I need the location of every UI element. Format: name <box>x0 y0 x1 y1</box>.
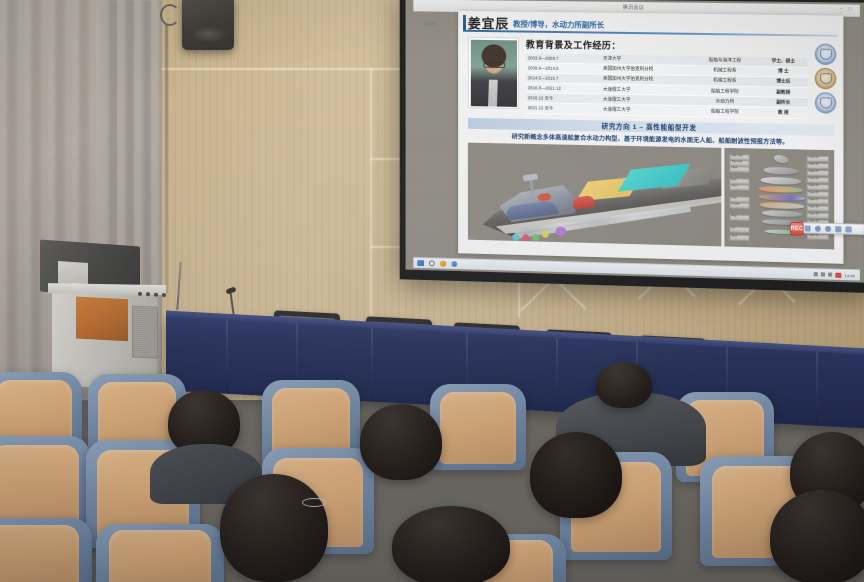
meeting-window-title: 腾讯会议 <box>623 4 644 11</box>
record-indicator-icon[interactable]: REC <box>790 222 803 235</box>
window-controls[interactable]: − □ <box>840 6 854 12</box>
audience-member-head <box>220 474 328 582</box>
app-icon-1[interactable] <box>440 260 446 267</box>
audience-member-head <box>530 432 622 518</box>
cell-title: 教 授 <box>759 107 808 118</box>
projected-desktop: 腾讯会议 − □ 会议中 姜宜辰教授/博导，水动力所副所长 <box>406 0 864 283</box>
wall-conduit <box>165 24 168 294</box>
projection-screen: 腾讯会议 − □ 会议中 姜宜辰教授/博导，水动力所副所长 <box>400 0 864 293</box>
meeting-status-label: 会议中 <box>423 21 436 27</box>
notification-icon[interactable] <box>835 272 841 277</box>
exit-icon[interactable] <box>845 226 851 232</box>
audience-seat <box>96 524 224 582</box>
education-heading: 教育背景及工作经历： <box>526 38 808 55</box>
title-underline <box>463 30 838 37</box>
university-logos <box>812 41 839 119</box>
share-screen-icon[interactable] <box>805 225 811 231</box>
start-icon[interactable] <box>417 260 423 267</box>
education-table: 2003.9—2009.7 天津大学 船舶与海洋工程 学士、硕士 2009.9—… <box>526 53 808 119</box>
audience-seat <box>0 518 92 582</box>
cell-org: 大连理工大学 <box>601 104 691 116</box>
audience-member-head <box>770 490 864 582</box>
network-icon[interactable] <box>821 272 825 276</box>
cell-date: 2021.12 至今 <box>526 103 601 115</box>
university-emblem-icon <box>814 68 835 90</box>
ceiling-speaker <box>182 0 234 50</box>
app-icon-2[interactable] <box>451 261 457 268</box>
more-icon[interactable] <box>835 226 841 232</box>
research-direction-title: 研究方向 1 – 高性能船型开发 <box>602 121 697 133</box>
clock[interactable]: 14:48 <box>844 272 854 277</box>
volume-icon[interactable] <box>828 273 832 277</box>
settings-icon[interactable] <box>825 225 831 231</box>
title-accent-bar <box>463 15 465 30</box>
university-emblem-icon <box>814 44 835 66</box>
speaker-portrait <box>468 37 519 109</box>
lecture-hall-photo: 腾讯会议 − □ 会议中 姜宜辰教授/博导，水动力所副所长 <box>0 0 864 582</box>
chevron-up-icon[interactable] <box>814 272 818 276</box>
ship-render-figure <box>468 142 721 246</box>
slide-body: 教育背景及工作经历： 2003.9—2009.7 天津大学 船舶与海洋工程 学士… <box>463 37 838 120</box>
search-icon[interactable] <box>428 260 434 267</box>
slide-header: 姜宜辰教授/博导，水动力所副所长 <box>463 15 838 38</box>
audience-member-head <box>360 404 442 480</box>
audience-seat <box>430 384 526 470</box>
annotate-icon[interactable] <box>815 225 821 231</box>
meeting-floating-toolbar[interactable]: REC <box>790 222 864 235</box>
cell-dept: 船舶工程学院 <box>691 106 759 117</box>
audience-member-head <box>392 506 510 582</box>
education-block: 教育背景及工作经历： 2003.9—2009.7 天津大学 船舶与海洋工程 学士… <box>526 38 808 119</box>
eyeglasses <box>302 498 326 507</box>
slide-figures: Main Hull Side Hull Deck Bow Stern Keel … <box>468 142 834 249</box>
presentation-slide: 姜宜辰教授/博导，水动力所副所长 教育背景及工作经历： <box>458 11 843 264</box>
system-tray[interactable]: 14:48 <box>814 272 855 278</box>
audience-member-head <box>596 362 652 408</box>
speaker-cable <box>160 4 180 26</box>
university-emblem-icon <box>814 92 835 114</box>
